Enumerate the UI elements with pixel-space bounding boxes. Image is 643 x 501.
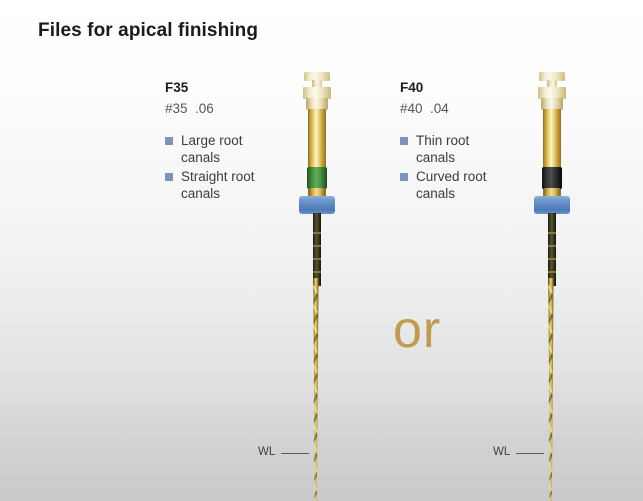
depth-marking-ring	[548, 232, 556, 234]
depth-marking-ring	[313, 245, 321, 247]
product-spec: #35 .06	[165, 99, 290, 118]
connector-word-or: or	[393, 302, 441, 358]
working-length-label: WL	[258, 446, 275, 458]
list-item: Thin root canals	[400, 132, 525, 166]
depth-marking-ring	[313, 232, 321, 234]
file-shaft	[548, 213, 556, 286]
depth-marking-ring	[548, 258, 556, 260]
feature-list: Thin root canals Curved root canals	[400, 132, 525, 202]
endodontic-file-illustration-f35	[287, 72, 347, 462]
list-item: Large root canals	[165, 132, 290, 166]
product-label-block: F40 #40 .04 Thin root canals Curved root…	[400, 80, 525, 204]
feature-label: Straight root canals	[181, 168, 277, 202]
file-handle-body-upper	[308, 109, 326, 169]
endodontic-file-illustration-f40	[522, 72, 582, 462]
list-item: Curved root canals	[400, 168, 525, 202]
bullet-square-icon	[400, 173, 408, 181]
product-spec: #40 .04	[400, 99, 525, 118]
silicone-stopper	[534, 196, 570, 214]
feature-list: Large root canals Straight root canals	[165, 132, 290, 202]
working-length-label: WL	[493, 446, 510, 458]
product-label-block: F35 #35 .06 Large root canals Straight r…	[165, 80, 290, 204]
feature-label: Thin root canals	[416, 132, 512, 166]
list-item: Straight root canals	[165, 168, 290, 202]
feature-label: Curved root canals	[416, 168, 512, 202]
working-length-leader-line	[281, 453, 309, 454]
slide-canvas: Files for apical finishing F35 #35 .06 L…	[0, 0, 643, 501]
product-name: F40	[400, 80, 525, 96]
file-shaft	[313, 213, 321, 286]
silicone-stopper	[299, 196, 335, 214]
file-handle-body-upper	[543, 109, 561, 169]
depth-marking-ring	[548, 245, 556, 247]
depth-marking-ring	[313, 258, 321, 260]
file-fluted-working-part	[545, 278, 567, 501]
bullet-square-icon	[165, 173, 173, 181]
file-color-ring	[542, 167, 562, 189]
working-length-leader-line	[516, 453, 544, 454]
depth-marking-ring	[548, 271, 556, 273]
file-fluted-working-part	[310, 278, 332, 501]
file-color-ring	[307, 167, 327, 189]
depth-marking-ring	[313, 271, 321, 273]
bullet-square-icon	[165, 137, 173, 145]
page-title: Files for apical finishing	[38, 20, 258, 42]
feature-label: Large root canals	[181, 132, 277, 166]
product-name: F35	[165, 80, 290, 96]
bullet-square-icon	[400, 137, 408, 145]
